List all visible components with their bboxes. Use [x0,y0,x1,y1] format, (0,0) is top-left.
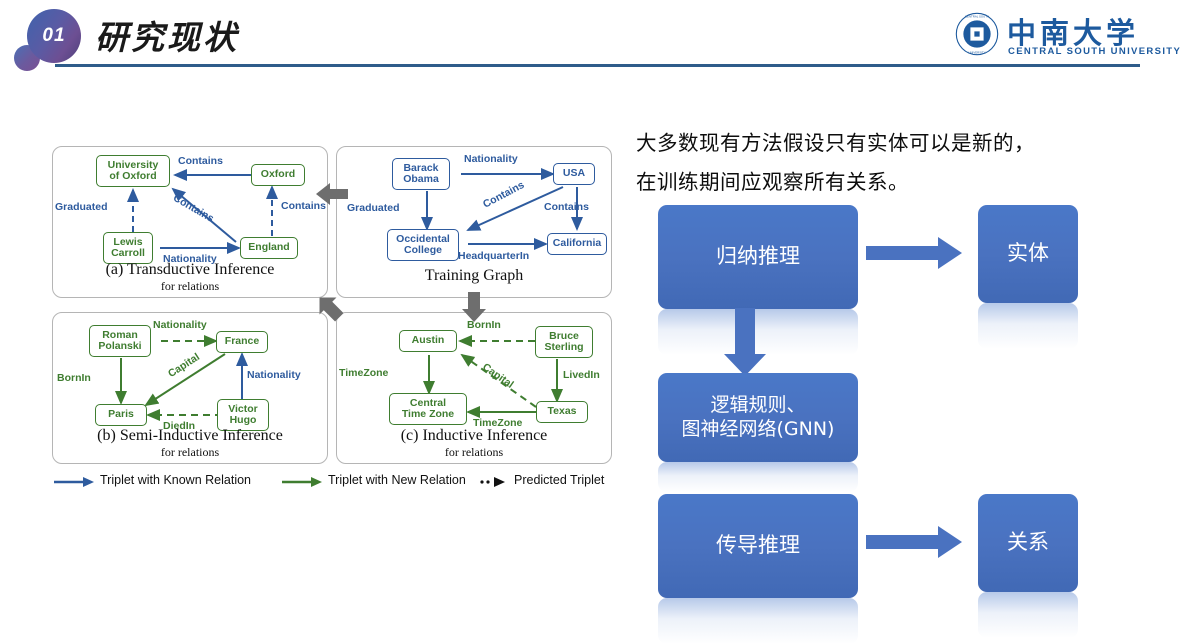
edge-label-headquarterin: HeadquarterIn [458,250,529,262]
edge-label-nationality: Nationality [464,153,518,165]
box-entity[interactable]: 实体 [978,205,1078,303]
arrow-inductive-to-methods-icon [715,300,775,380]
figure-legend: Triplet with Known Relation Triplet with… [52,472,612,494]
caption-training-graph: Training Graph [337,267,611,285]
svg-text:CENTRAL SOUTH: CENTRAL SOUTH [965,15,989,19]
node-usa: USA [553,163,595,185]
edge-label-graduated: Graduated [347,202,400,214]
reflection-relation [978,592,1078,638]
legend-predicted-label: Predicted Triplet [514,473,604,487]
inference-figure: University of Oxford Oxford Lewis Carrol… [48,140,616,500]
university-logo: CENTRAL SOUTH UNIVERSITY 中南大学 CENTRAL SO… [955,10,1145,62]
description-line-1: 大多数现有方法假设只有实体可以是新的， [636,126,1035,156]
edge-label-bornin: BornIn [57,372,91,384]
node-central-time-zone: Central Time Zone [389,393,467,425]
caption-semi-inductive-sub: for relations [53,445,327,460]
edge-label-graduated: Graduated [55,201,108,213]
box-inductive-reasoning[interactable]: 归纳推理 [658,205,858,309]
svg-text:UNIVERSITY: UNIVERSITY [968,50,985,54]
node-paris: Paris [95,404,147,426]
reflection-methods [658,462,858,492]
quadrant-training-graph: Barack Obama USA Occidental College Cali… [336,146,612,298]
quadrant-semi-inductive-inference: Roman Polanski France Paris Victor Hugo … [52,312,328,464]
box-relation[interactable]: 关系 [978,494,1078,592]
arrow-training-to-inductive-icon [459,290,489,324]
header-divider [55,64,1140,67]
logo-name-en: CENTRAL SOUTH UNIVERSITY [1008,46,1181,57]
node-austin: Austin [399,330,457,352]
node-texas: Texas [536,401,588,423]
edge-label-contains-1: Contains [178,155,223,167]
node-france: France [216,331,268,353]
page-title: 研究现状 [95,11,239,59]
edge-label-contains-2: Contains [544,201,589,213]
caption-semi-inductive: (b) Semi-Inductive Inference [53,427,327,445]
node-california: California [547,233,607,255]
edge-label-nationality-blue: Nationality [247,369,301,381]
box-methods[interactable]: 逻辑规则、 图神经网络(GNN) [658,373,858,462]
arrow-transductive-to-relation-icon [858,517,978,567]
header-section-badge: 01 [27,9,81,63]
csu-seal-icon: CENTRAL SOUTH UNIVERSITY [955,12,999,56]
arrow-training-to-transductive-icon [310,180,350,210]
legend-predicted-arrow-icon [480,476,510,488]
arrow-inductive-to-entity-icon [858,228,978,278]
reflection-entity [978,303,1078,349]
reflection-transductive [658,598,858,644]
quadrant-transductive-inference: University of Oxford Oxford Lewis Carrol… [52,146,328,298]
arrow-training-to-semi-inductive-icon [310,288,346,324]
node-barack-obama: Barack Obama [392,158,450,190]
node-bruce-sterling: Bruce Sterling [535,326,593,358]
node-university-of-oxford: University of Oxford [96,155,170,187]
node-roman-polanski: Roman Polanski [89,325,151,357]
legend-new-arrow-icon [282,476,324,488]
description-line-2: 在训练期间应观察所有关系。 [636,165,909,195]
node-england: England [240,237,298,259]
legend-known-relation-label: Triplet with Known Relation [100,473,251,487]
header-section-number: 01 [27,9,81,63]
edge-label-livedin: LivedIn [563,369,600,381]
caption-inductive: (c) Inductive Inference [337,427,611,445]
node-occidental-college: Occidental College [387,229,459,261]
quadrant-inductive-inference: Austin Bruce Sterling Central Time Zone … [336,312,612,464]
edge-label-nationality-green: Nationality [153,319,207,331]
right-panel: 大多数现有方法假设只有实体可以是新的， 在训练期间应观察所有关系。 归纳推理 实… [630,110,1175,630]
caption-transductive: (a) Transductive Inference [53,261,327,279]
node-oxford: Oxford [251,164,305,186]
legend-new-relation-label: Triplet with New Relation [328,473,466,487]
legend-known-arrow-icon [54,476,96,488]
edge-label-timezone-1: TimeZone [339,367,388,379]
caption-transductive-sub: for relations [53,279,327,294]
caption-inductive-sub: for relations [337,445,611,460]
box-transductive-reasoning[interactable]: 传导推理 [658,494,858,598]
node-lewis-carroll: Lewis Carroll [103,232,153,264]
